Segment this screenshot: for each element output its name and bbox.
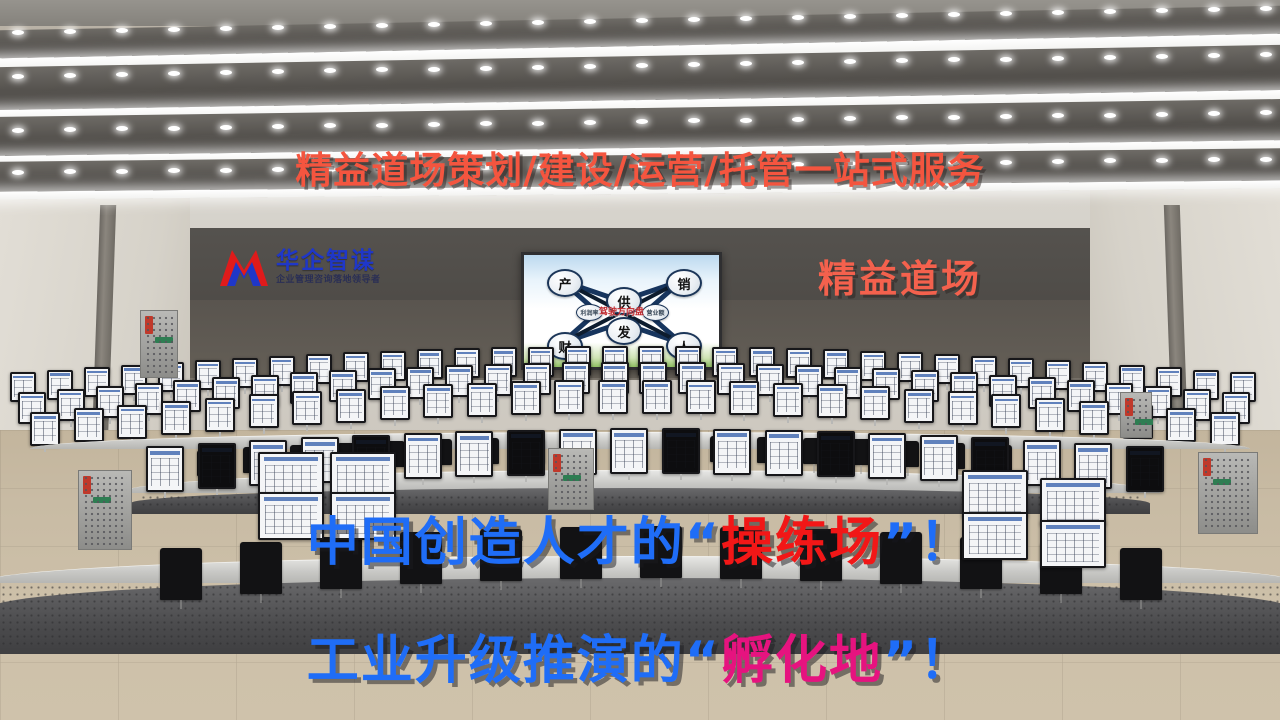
tagline-1-open-quote: “ bbox=[685, 513, 721, 573]
equipment-rack bbox=[140, 310, 178, 378]
downlight bbox=[844, 116, 856, 121]
monitor bbox=[598, 380, 628, 414]
chair bbox=[1120, 548, 1162, 600]
monitor bbox=[610, 428, 648, 474]
tagline-2: 工业升级推演的“孵化地”！ bbox=[307, 618, 973, 693]
tagline-1-highlight: 操练场 bbox=[721, 513, 883, 573]
downlight bbox=[1156, 112, 1168, 117]
chair bbox=[240, 542, 282, 594]
downlight bbox=[168, 27, 180, 32]
monitor bbox=[117, 405, 147, 439]
monitor bbox=[920, 435, 958, 481]
monitor bbox=[817, 384, 847, 418]
monitor bbox=[336, 389, 366, 423]
downlight bbox=[376, 23, 388, 28]
monitor bbox=[380, 386, 410, 420]
wall-logo: 华企智谋 企业管理咨询落地领导者 bbox=[218, 246, 381, 288]
downlight bbox=[376, 67, 388, 72]
downlight bbox=[844, 14, 856, 19]
equipment-rack bbox=[1120, 392, 1152, 438]
downlight bbox=[636, 119, 648, 124]
monitor bbox=[868, 433, 906, 479]
monitor bbox=[729, 381, 759, 415]
diagram-node-xiao: 销 bbox=[666, 269, 702, 297]
downlight bbox=[220, 70, 232, 75]
downlight bbox=[1104, 55, 1116, 60]
downlight bbox=[740, 61, 752, 66]
monitor bbox=[817, 431, 855, 477]
control-room-scene: 华企智谋 企业管理咨询落地领导者 bbox=[0, 0, 1280, 720]
monitor bbox=[198, 443, 236, 489]
tagline-2-open-quote: “ bbox=[685, 631, 721, 691]
downlight bbox=[272, 25, 284, 30]
downlight bbox=[1104, 9, 1116, 14]
downlight bbox=[168, 168, 180, 173]
downlight bbox=[272, 167, 284, 172]
downlight bbox=[480, 121, 492, 126]
downlight bbox=[64, 29, 76, 34]
monitor bbox=[860, 386, 890, 420]
monitor bbox=[404, 433, 442, 479]
downlight bbox=[220, 168, 232, 173]
downlight bbox=[324, 68, 336, 73]
diagram-node-revenue: 营业额 bbox=[642, 304, 669, 321]
downlight bbox=[1260, 110, 1272, 115]
monitor bbox=[1126, 446, 1164, 492]
downlight bbox=[376, 123, 388, 128]
tagline-1-close-quote: ” bbox=[883, 513, 919, 573]
monitor bbox=[467, 383, 497, 417]
tagline-2-highlight: 孵化地 bbox=[721, 631, 883, 691]
downlight bbox=[1208, 7, 1220, 12]
downlight bbox=[428, 122, 440, 127]
monitor bbox=[1040, 520, 1106, 568]
downlight bbox=[896, 115, 908, 120]
downlight bbox=[1052, 113, 1064, 118]
downlight bbox=[636, 63, 648, 68]
monitor bbox=[554, 380, 584, 414]
downlight bbox=[1260, 157, 1272, 162]
monitor bbox=[507, 430, 545, 476]
headline-text: 精益道场策划/建设/运营/托管一站式服务 bbox=[295, 140, 985, 194]
downlight bbox=[948, 12, 960, 17]
downlight bbox=[1000, 114, 1012, 119]
monitor bbox=[765, 430, 803, 476]
equipment-rack bbox=[78, 470, 132, 550]
monitor bbox=[686, 380, 716, 414]
monitor bbox=[1035, 398, 1065, 432]
downlight bbox=[64, 127, 76, 132]
downlight bbox=[1104, 113, 1116, 118]
tagline-1-prefix: 中国创造人才的 bbox=[307, 513, 685, 573]
downlight bbox=[116, 72, 128, 77]
tagline-2-prefix: 工业升级推演的 bbox=[307, 631, 685, 691]
tagline-2-close-quote: ” bbox=[883, 631, 919, 691]
downlight bbox=[896, 13, 908, 18]
downlight bbox=[12, 30, 24, 35]
downlight bbox=[64, 73, 76, 78]
downlight bbox=[1208, 53, 1220, 58]
downlight bbox=[272, 69, 284, 74]
downlight bbox=[740, 16, 752, 21]
logo-text-block: 华企智谋 企业管理咨询落地领导者 bbox=[276, 250, 381, 285]
tagline-1-bang: ！ bbox=[919, 513, 973, 573]
downlight bbox=[428, 22, 440, 27]
monitor bbox=[30, 412, 60, 446]
monitor bbox=[161, 401, 191, 435]
downlight bbox=[584, 64, 596, 69]
downlight bbox=[480, 66, 492, 71]
downlight bbox=[584, 120, 596, 125]
downlight bbox=[116, 169, 128, 174]
diagram-node-fa: 发 bbox=[606, 317, 642, 345]
monitor bbox=[1079, 401, 1109, 435]
downlight bbox=[1000, 57, 1012, 62]
downlight bbox=[688, 62, 700, 67]
downlight bbox=[1104, 158, 1116, 163]
monitor bbox=[1210, 412, 1240, 446]
downlight bbox=[220, 125, 232, 130]
mountain-m-logo-icon bbox=[218, 246, 270, 288]
downlight bbox=[844, 59, 856, 64]
monitor bbox=[1166, 408, 1196, 442]
monitor bbox=[511, 381, 541, 415]
chair bbox=[160, 548, 202, 600]
downlight bbox=[1000, 160, 1012, 165]
downlight bbox=[428, 67, 440, 72]
downlight bbox=[896, 58, 908, 63]
downlight bbox=[584, 19, 596, 24]
downlight bbox=[116, 126, 128, 131]
subhead-text: 精益道场 bbox=[818, 248, 982, 303]
monitor bbox=[249, 394, 279, 428]
downlight bbox=[272, 124, 284, 129]
downlight bbox=[64, 169, 76, 174]
downlight bbox=[480, 21, 492, 26]
monitor bbox=[146, 446, 184, 492]
downlight bbox=[1156, 8, 1168, 13]
downlight bbox=[532, 121, 544, 126]
downlight bbox=[1052, 10, 1064, 15]
downlight bbox=[1156, 158, 1168, 163]
downlight bbox=[168, 126, 180, 131]
downlight bbox=[948, 57, 960, 62]
downlight bbox=[1208, 157, 1220, 162]
downlight bbox=[116, 28, 128, 33]
monitor bbox=[292, 391, 322, 425]
downlight bbox=[636, 18, 648, 23]
monitor bbox=[904, 389, 934, 423]
downlight bbox=[1052, 56, 1064, 61]
downlight bbox=[12, 128, 24, 133]
downlight bbox=[532, 20, 544, 25]
downlight bbox=[688, 118, 700, 123]
downlight bbox=[324, 24, 336, 29]
downlight bbox=[532, 65, 544, 70]
downlight bbox=[12, 170, 24, 175]
monitor bbox=[642, 380, 672, 414]
monitor bbox=[205, 398, 235, 432]
screenshot-stage: 华企智谋 企业管理咨询落地领导者 bbox=[0, 0, 1280, 720]
downlight bbox=[1208, 111, 1220, 116]
brand-name: 华企智谋 bbox=[276, 250, 381, 273]
downlight bbox=[1260, 6, 1272, 11]
downlight bbox=[792, 117, 804, 122]
downlight bbox=[324, 123, 336, 128]
downlight bbox=[1156, 54, 1168, 59]
monitor bbox=[662, 428, 700, 474]
diagram-center-label: 驾驶方向盘 bbox=[599, 305, 644, 318]
monitor bbox=[1040, 478, 1106, 526]
downlight bbox=[740, 118, 752, 123]
monitor bbox=[713, 429, 751, 475]
downlight bbox=[792, 60, 804, 65]
downlight bbox=[220, 26, 232, 31]
downlight bbox=[948, 115, 960, 120]
monitor bbox=[455, 431, 493, 477]
downlight bbox=[1000, 11, 1012, 16]
monitor bbox=[773, 383, 803, 417]
monitor bbox=[948, 391, 978, 425]
equipment-rack bbox=[1198, 452, 1258, 534]
tagline-2-bang: ！ bbox=[919, 631, 973, 691]
monitor bbox=[74, 408, 104, 442]
downlight bbox=[688, 17, 700, 22]
downlight bbox=[1052, 159, 1064, 164]
downlight bbox=[168, 71, 180, 76]
monitor bbox=[991, 394, 1021, 428]
downlight bbox=[1260, 52, 1272, 57]
brand-slogan: 企业管理咨询落地领导者 bbox=[276, 276, 381, 285]
diagram-node-chan: 产 bbox=[547, 269, 583, 297]
downlight bbox=[792, 15, 804, 20]
monitor bbox=[423, 384, 453, 418]
downlight bbox=[12, 74, 24, 79]
tagline-1: 中国创造人才的“操练场”！ bbox=[307, 500, 973, 575]
